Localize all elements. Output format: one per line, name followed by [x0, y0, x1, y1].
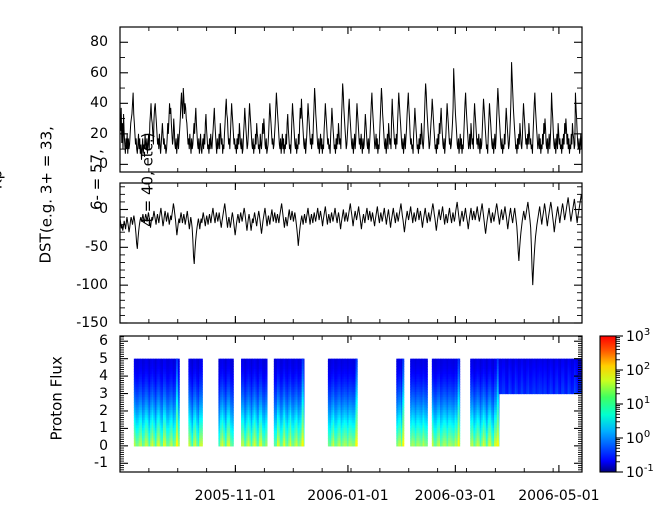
tick-label: 2	[99, 403, 108, 419]
tick-label: 3	[99, 386, 108, 402]
spectrogram	[134, 359, 583, 447]
colorbar-exponent: 2	[644, 361, 650, 372]
colorbar-tick-label: 102	[626, 361, 650, 379]
tick-label: 0	[99, 156, 108, 172]
tick-label: 4	[99, 368, 108, 384]
tick-label: -1	[94, 455, 108, 471]
tick-label: 5	[99, 351, 108, 367]
colorbar-base: 10	[626, 397, 644, 413]
proton-flux-axis-label: Proton Flux	[49, 343, 66, 453]
tick-label: 0	[99, 438, 108, 454]
colorbar-exponent: 3	[644, 327, 650, 338]
colorbar-exponent: -1	[644, 463, 654, 474]
tick-label: 2006-01-01	[307, 488, 388, 504]
colorbar-tick-label: 101	[626, 395, 650, 413]
colorbar-exponent: 0	[644, 429, 650, 440]
tick-label: 0	[99, 201, 108, 217]
tick-label: 6	[99, 333, 108, 349]
tick-label: 2006-03-01	[415, 488, 496, 504]
colorbar-tick-label: 100	[626, 429, 650, 447]
tick-label: 60	[90, 65, 108, 81]
dst-axis-label: DST	[38, 218, 55, 278]
kp-axis-label-line1: Kp	[0, 100, 5, 260]
tick-label: -50	[85, 239, 108, 255]
tick-label: 40	[90, 95, 108, 111]
tick-label: 2005-11-01	[195, 488, 276, 504]
colorbar-base: 10	[626, 465, 644, 481]
colorbar-tick-label: 103	[626, 327, 650, 345]
tick-label: -150	[76, 315, 108, 331]
proton-flux-panel	[120, 336, 583, 472]
colorbar-tick-label: 10-1	[626, 463, 654, 481]
tick-label: -100	[76, 277, 108, 293]
tick-label: 1	[99, 420, 108, 436]
tick-label: 2006-05-01	[518, 488, 599, 504]
colorbar	[600, 336, 623, 472]
kp-axis-label-line3: 6- = 57,	[89, 100, 106, 260]
figure-canvas: Kp (e.g. 3+ = 33, 6- = 57, 4 = 40, etc.)…	[0, 0, 665, 523]
tick-label: 20	[90, 126, 108, 142]
colorbar-exponent: 1	[644, 395, 650, 406]
kp-axis-label: Kp (e.g. 3+ = 33, 6- = 57, 4 = 40, etc.)	[0, 100, 190, 260]
kp-axis-label-line4: 4 = 40, etc.)	[139, 100, 156, 260]
colorbar-base: 10	[626, 329, 644, 345]
tick-label: 80	[90, 34, 108, 50]
colorbar-base: 10	[626, 363, 644, 379]
colorbar-base: 10	[626, 431, 644, 447]
